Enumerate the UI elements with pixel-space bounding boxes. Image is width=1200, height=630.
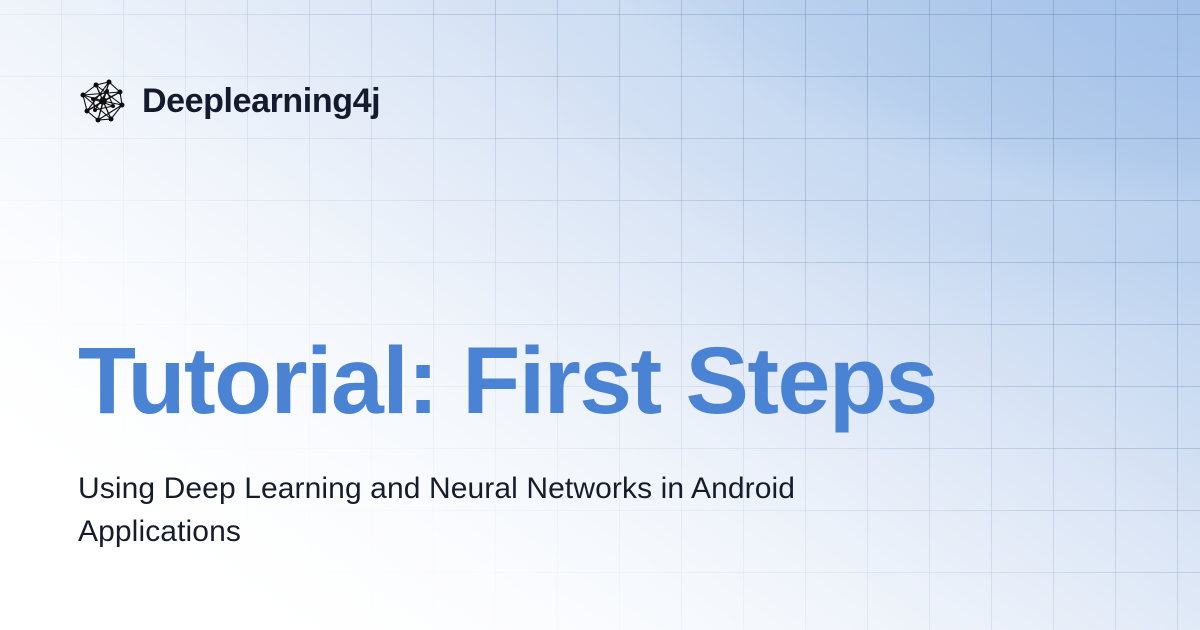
- neural-network-graph-icon: [78, 76, 128, 126]
- page-subtitle: Using Deep Learning and Neural Networks …: [78, 468, 838, 553]
- page-title: Tutorial: First Steps: [78, 334, 937, 429]
- card-content: Deeplearning4j Tutorial: First Steps Usi…: [0, 0, 1200, 630]
- brand-name: Deeplearning4j: [142, 84, 380, 118]
- og-social-card: Deeplearning4j Tutorial: First Steps Usi…: [0, 0, 1200, 630]
- brand-lockup: Deeplearning4j: [78, 76, 380, 126]
